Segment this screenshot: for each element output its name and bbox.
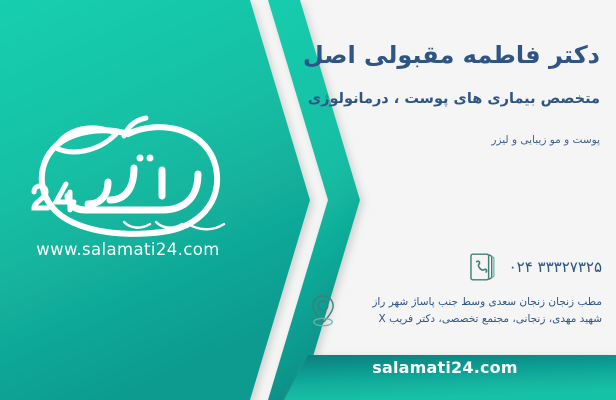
apple-leaf-logo-icon [12, 112, 244, 240]
footer-site-url[interactable]: salamati24.com [330, 358, 560, 377]
doctor-specialty: متخصص بیماری های پوست ، درمانولوژی [300, 88, 600, 110]
address-line-2: شهید مهدی، زنجانی، مجتمع تخصصی، دکتر فری… [350, 311, 602, 328]
address-block: مطب زنجان زنجان سعدی وسط جنب پاساژ شهر ر… [350, 294, 602, 328]
address-text-wrap: مطب زنجان زنجان سعدی وسط جنب پاساژ شهر ر… [350, 294, 602, 328]
phone-number[interactable]: ۳۳۳۲۷۳۲۵ ۰۲۴ [509, 258, 602, 276]
doctor-subspecialty: پوست و مو زیبایی و لیزر [300, 132, 600, 148]
business-card: www.salamati24.com دکتر فاطمه مقبولی اصل… [0, 0, 616, 400]
address-row[interactable]: مطب زنجان زنجان سعدی وسط جنب پاساژ شهر ر… [306, 292, 602, 330]
phone-text-wrap: ۳۳۳۲۷۳۲۵ ۰۲۴ [509, 258, 602, 276]
logo-url-text: www.salamati24.com [12, 240, 244, 259]
phone-book-icon [465, 248, 499, 286]
info-column: دکتر فاطمه مقبولی اصل متخصص بیماری های پ… [286, 0, 616, 400]
address-line-1: مطب زنجان زنجان سعدی وسط جنب پاساژ شهر ر… [350, 294, 602, 311]
map-pin-icon [306, 292, 340, 330]
doctor-name: دکتر فاطمه مقبولی اصل [300, 38, 600, 72]
phone-row[interactable]: ۳۳۳۲۷۳۲۵ ۰۲۴ [465, 248, 602, 286]
brand-logo: www.salamati24.com [12, 112, 244, 272]
